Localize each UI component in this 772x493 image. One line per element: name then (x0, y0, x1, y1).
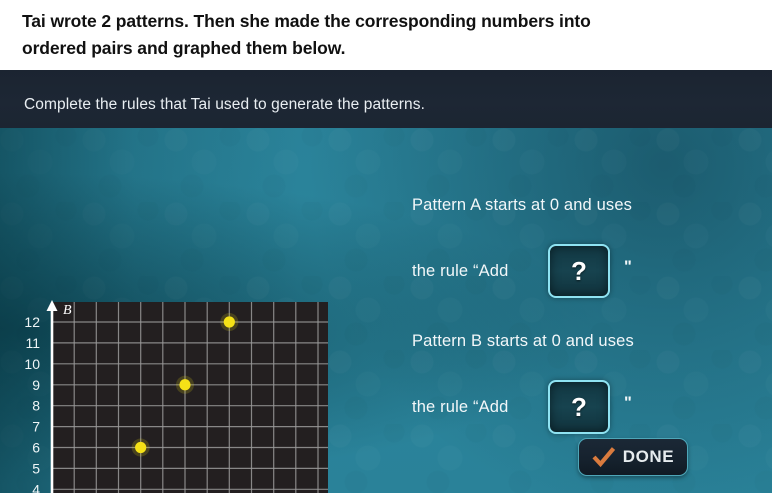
instruction-bar: Complete the rules that Tai used to gene… (0, 70, 772, 128)
pattern-a-sentence: Pattern A starts at 0 and uses (412, 196, 772, 218)
pattern-a-close-quote: " (624, 258, 632, 277)
y-tick-9: 9 (32, 377, 40, 393)
y-tick-7: 7 (32, 419, 40, 435)
pattern-b-answer-value: ? (571, 394, 587, 420)
y-tick-10: 10 (24, 356, 40, 372)
y-tick-8: 8 (32, 398, 40, 414)
y-tick-11: 11 (25, 335, 40, 351)
done-button[interactable]: DONE (578, 438, 688, 476)
coordinate-plane: B A 0 1 2 3 4 5 6 7 8 9 10 11 12 (0, 128, 360, 493)
y-axis-label: B (63, 303, 72, 318)
pattern-b-rule-row: the rule “Add ? " (412, 380, 772, 436)
question-prompt-header: Tai wrote 2 patterns. Then she made the … (0, 0, 772, 70)
rules-panel: Pattern A starts at 0 and uses the rule … (412, 128, 772, 493)
check-icon (592, 446, 616, 468)
data-point (135, 442, 146, 453)
data-point (224, 316, 235, 327)
data-point (179, 379, 190, 390)
pattern-a-rule-row: the rule “Add ? " (412, 244, 772, 300)
activity-screen: Tai wrote 2 patterns. Then she made the … (0, 0, 772, 493)
plot-background (52, 302, 328, 493)
question-prompt-line-1: Tai wrote 2 patterns. Then she made the … (22, 8, 750, 35)
y-tick-5: 5 (32, 460, 40, 476)
pattern-a-rule-block: Pattern A starts at 0 and uses the rule … (412, 196, 772, 300)
question-prompt-line-2: ordered pairs and graphed them below. (22, 35, 750, 62)
y-tick-labels: 0 1 2 3 4 5 6 7 8 9 10 11 12 (24, 314, 40, 493)
y-tick-12: 12 (24, 314, 40, 330)
instruction-text: Complete the rules that Tai used to gene… (24, 96, 425, 114)
pattern-a-rule-lead: the rule “Add (412, 262, 508, 281)
pattern-b-answer-box[interactable]: ? (548, 380, 610, 434)
coordinate-plane-svg: B A 0 1 2 3 4 5 6 7 8 9 10 11 12 (0, 128, 360, 493)
pattern-a-answer-box[interactable]: ? (548, 244, 610, 298)
done-button-label: DONE (623, 447, 675, 467)
y-tick-6: 6 (32, 440, 40, 456)
pattern-b-close-quote: " (624, 394, 632, 413)
pattern-b-sentence: Pattern B starts at 0 and uses (412, 332, 772, 354)
activity-body: B A 0 1 2 3 4 5 6 7 8 9 10 11 12 (0, 128, 772, 493)
pattern-a-answer-value: ? (571, 258, 587, 284)
y-tick-4: 4 (32, 481, 40, 493)
pattern-b-rule-lead: the rule “Add (412, 398, 508, 417)
pattern-b-rule-block: Pattern B starts at 0 and uses the rule … (412, 332, 772, 436)
